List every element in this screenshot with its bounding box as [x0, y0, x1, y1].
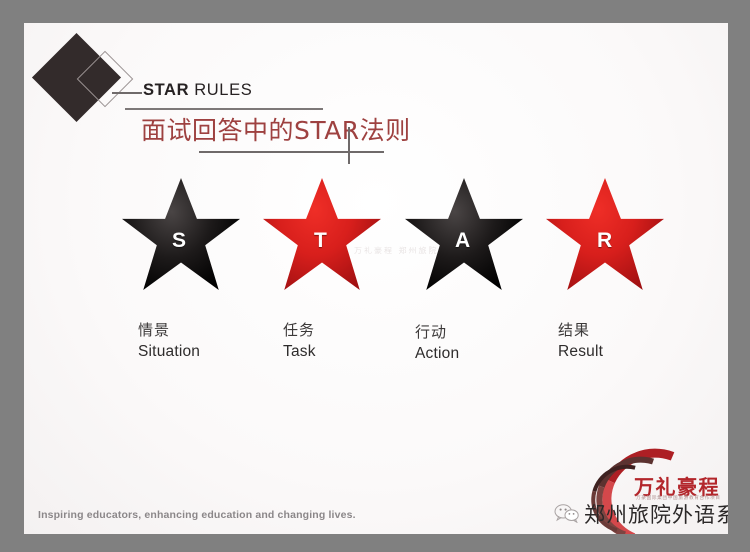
star-letter-a: A [455, 229, 470, 253]
label-task: 任务 Task [283, 319, 316, 361]
label-situation-en: Situation [138, 343, 200, 361]
organization-logo: 万礼豪程 万豪国际集团中国旅游教育合作项目 郑州旅院外语系 [552, 447, 728, 534]
label-action-cn: 行动 [415, 321, 459, 342]
presentation-slide: STAR RULES 面试回答中的STAR法则 万礼豪程 郑州旅院外语系 S T… [24, 23, 728, 534]
star-letter-r: R [597, 229, 612, 253]
label-result: 结果 Result [558, 319, 603, 361]
header-divider-tick [348, 127, 350, 164]
header-lead-line [112, 92, 142, 94]
page-title-regular: RULES [189, 81, 252, 99]
header-divider-bottom [199, 151, 384, 153]
label-action-en: Action [415, 345, 459, 363]
label-result-en: Result [558, 343, 603, 361]
star-letter-t: T [314, 229, 327, 253]
label-result-cn: 结果 [558, 319, 603, 340]
label-action: 行动 Action [415, 321, 459, 363]
page-subtitle-chinese: 面试回答中的STAR法则 [141, 111, 411, 147]
label-situation: 情景 Situation [138, 319, 200, 361]
page-title-english: STAR RULES [143, 81, 252, 100]
page-title-bold: STAR [143, 81, 189, 99]
label-task-cn: 任务 [283, 319, 316, 340]
label-situation-cn: 情景 [138, 319, 200, 340]
footer-tagline: Inspiring educators, enhancing education… [38, 509, 356, 521]
header-divider-top [125, 108, 323, 110]
wechat-icon [554, 503, 580, 523]
label-task-en: Task [283, 343, 316, 361]
star-letter-s: S [172, 229, 186, 253]
logo-department-name: 郑州旅院外语系 [584, 499, 728, 529]
screenshot-root: STAR RULES 面试回答中的STAR法则 万礼豪程 郑州旅院外语系 S T… [0, 0, 750, 552]
